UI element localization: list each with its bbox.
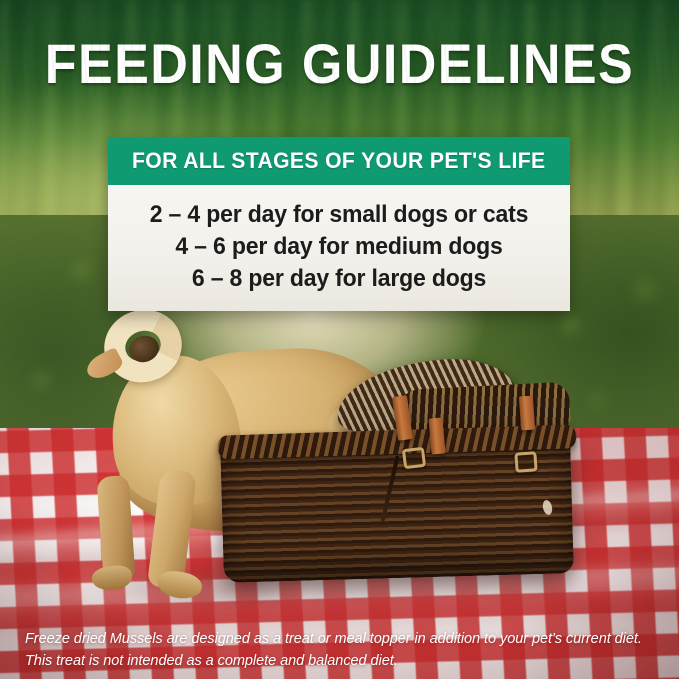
disclaimer: Freeze dried Mussels are designed as a t… [25,628,655,672]
basket-buckle-1 [402,447,426,470]
disclaimer-line-1: Freeze dried Mussels are designed as a t… [25,628,655,650]
feeding-guidelines-card: FOR ALL STAGES OF YOUR PET'S LIFE 2 – 4 … [108,137,570,311]
basket-strap-2 [428,417,445,454]
card-body-panel: 2 – 4 per day for small dogs or cats 4 –… [108,185,570,311]
basket-buckle-2 [514,451,537,472]
card-header-text: FOR ALL STAGES OF YOUR PET'S LIFE [132,148,546,174]
feeding-line-medium: 4 – 6 per day for medium dogs [117,231,561,263]
feeding-guidelines-graphic: FEEDING GUIDELINES FOR ALL STAGES OF YOU… [0,0,679,679]
basket-strap-3 [519,396,535,431]
feeding-line-large: 6 – 8 per day for large dogs [117,263,561,295]
feeding-line-small: 2 – 4 per day for small dogs or cats [117,199,561,231]
page-title: FEEDING GUIDELINES [24,36,655,92]
card-header-band: FOR ALL STAGES OF YOUR PET'S LIFE [108,137,570,185]
disclaimer-line-2: This treat is not intended as a complete… [25,650,655,672]
